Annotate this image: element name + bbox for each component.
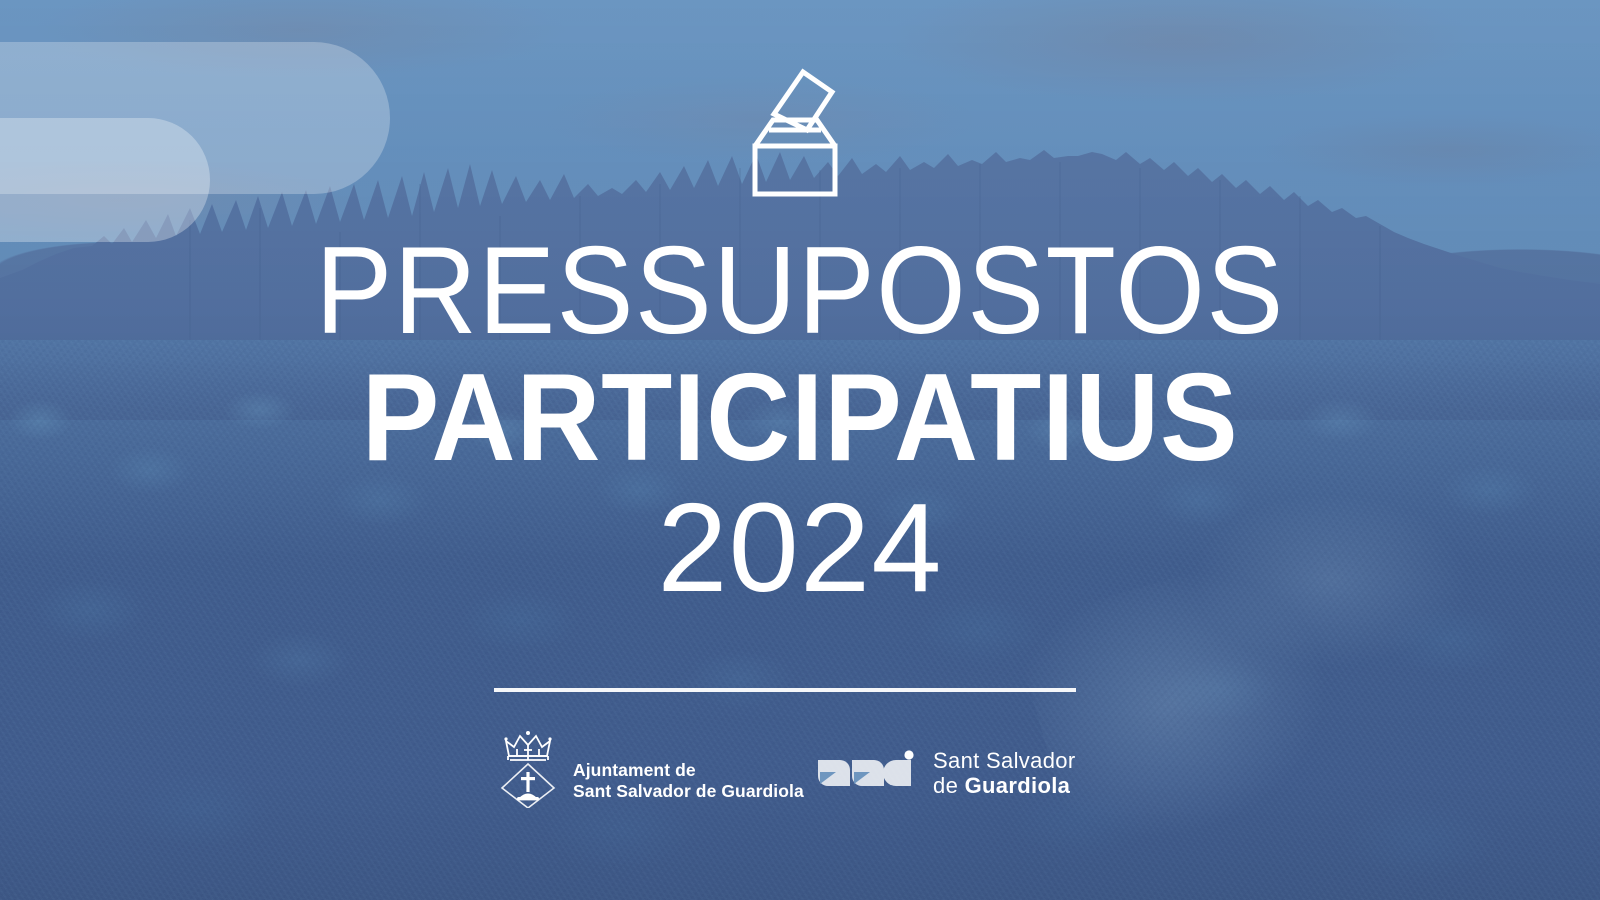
decorative-pill-small	[0, 118, 210, 242]
poster-canvas: PRESSUPOSTOS PARTICIPATIUS 2024	[0, 0, 1600, 900]
title-line-1: PRESSUPOSTOS	[56, 236, 1544, 346]
ajuntament-wordmark: Ajuntament de Sant Salvador de Guardiola	[573, 732, 804, 803]
ssg-logo-lockup: Sant Salvador de Guardiola	[818, 748, 1076, 798]
ssg-line-1: Sant Salvador	[933, 748, 1076, 773]
ajuntament-logo-lockup: Ajuntament de Sant Salvador de Guardiola	[497, 726, 804, 808]
ajuntament-line-1: Ajuntament de	[573, 760, 804, 782]
ballot-box-icon	[731, 62, 841, 197]
ajuntament-line-2: Sant Salvador de Guardiola	[573, 781, 804, 803]
title-block: PRESSUPOSTOS PARTICIPATIUS 2024	[0, 236, 1600, 608]
footer-logos: Ajuntament de Sant Salvador de Guardiola	[0, 726, 1600, 836]
ssg-line-2: de Guardiola	[933, 773, 1076, 798]
title-line-2: PARTICIPATIUS	[48, 362, 1552, 474]
divider-rule	[494, 688, 1076, 692]
ssg-monogram-icon	[818, 750, 920, 796]
title-year: 2024	[0, 488, 1600, 608]
crown-and-diamond-crest-icon	[497, 726, 559, 808]
ssg-line-2-bold: Guardiola	[965, 773, 1071, 798]
ssg-line-2-light: de	[933, 773, 965, 798]
ssg-wordmark: Sant Salvador de Guardiola	[933, 748, 1076, 798]
